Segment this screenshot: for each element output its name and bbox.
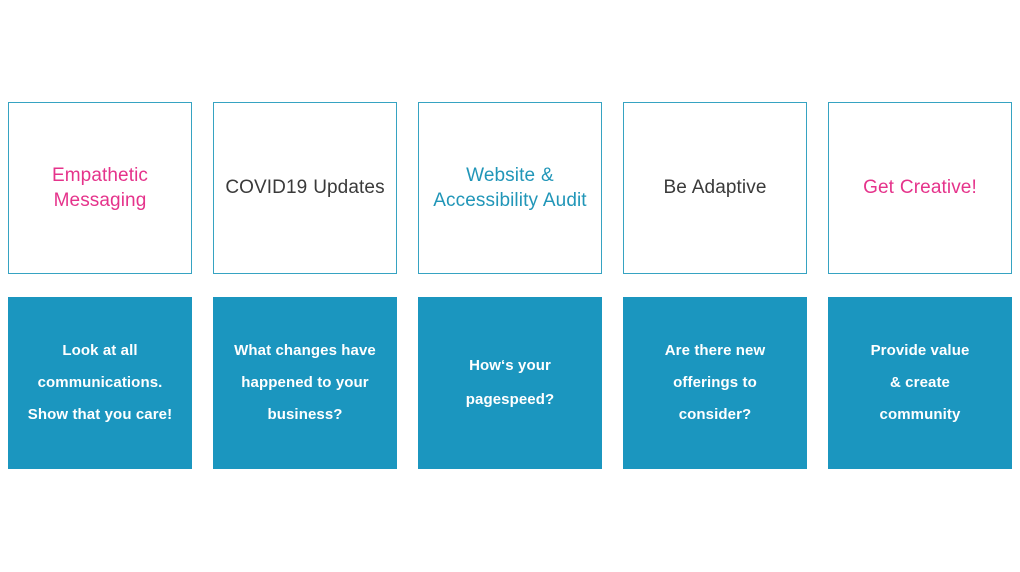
title-card-4[interactable]: Be Adaptive <box>623 102 807 274</box>
title-card-1[interactable]: EmpatheticMessaging <box>8 102 192 274</box>
detail-box-3-text: How‘s yourpagespeed? <box>466 349 555 418</box>
detail-box-5-text: Provide value& createcommunity <box>871 335 970 432</box>
title-card-5[interactable]: Get Creative! <box>828 102 1012 274</box>
detail-box-row: Look at allcommunications.Show that you … <box>8 297 1012 469</box>
detail-box-3[interactable]: How‘s yourpagespeed? <box>418 297 602 469</box>
detail-box-1[interactable]: Look at allcommunications.Show that you … <box>8 297 192 469</box>
detail-box-5[interactable]: Provide value& createcommunity <box>828 297 1012 469</box>
title-card-5-text: Get Creative! <box>863 175 977 200</box>
detail-box-2-text: What changes havehappened to yourbusines… <box>234 335 376 432</box>
slide-canvas: EmpatheticMessaging COVID19 Updates Webs… <box>0 0 1020 572</box>
title-card-4-text: Be Adaptive <box>663 175 766 200</box>
title-card-2-text: COVID19 Updates <box>225 175 384 200</box>
title-card-3[interactable]: Website &Accessibility Audit <box>418 102 602 274</box>
detail-box-4[interactable]: Are there newofferings toconsider? <box>623 297 807 469</box>
detail-box-2[interactable]: What changes havehappened to yourbusines… <box>213 297 397 469</box>
detail-box-4-text: Are there newofferings toconsider? <box>665 335 766 432</box>
title-card-1-text: EmpatheticMessaging <box>52 163 148 213</box>
title-card-2[interactable]: COVID19 Updates <box>213 102 397 274</box>
detail-box-1-text: Look at allcommunications.Show that you … <box>28 335 172 432</box>
title-card-row: EmpatheticMessaging COVID19 Updates Webs… <box>8 102 1012 274</box>
title-card-3-text: Website &Accessibility Audit <box>433 163 586 213</box>
